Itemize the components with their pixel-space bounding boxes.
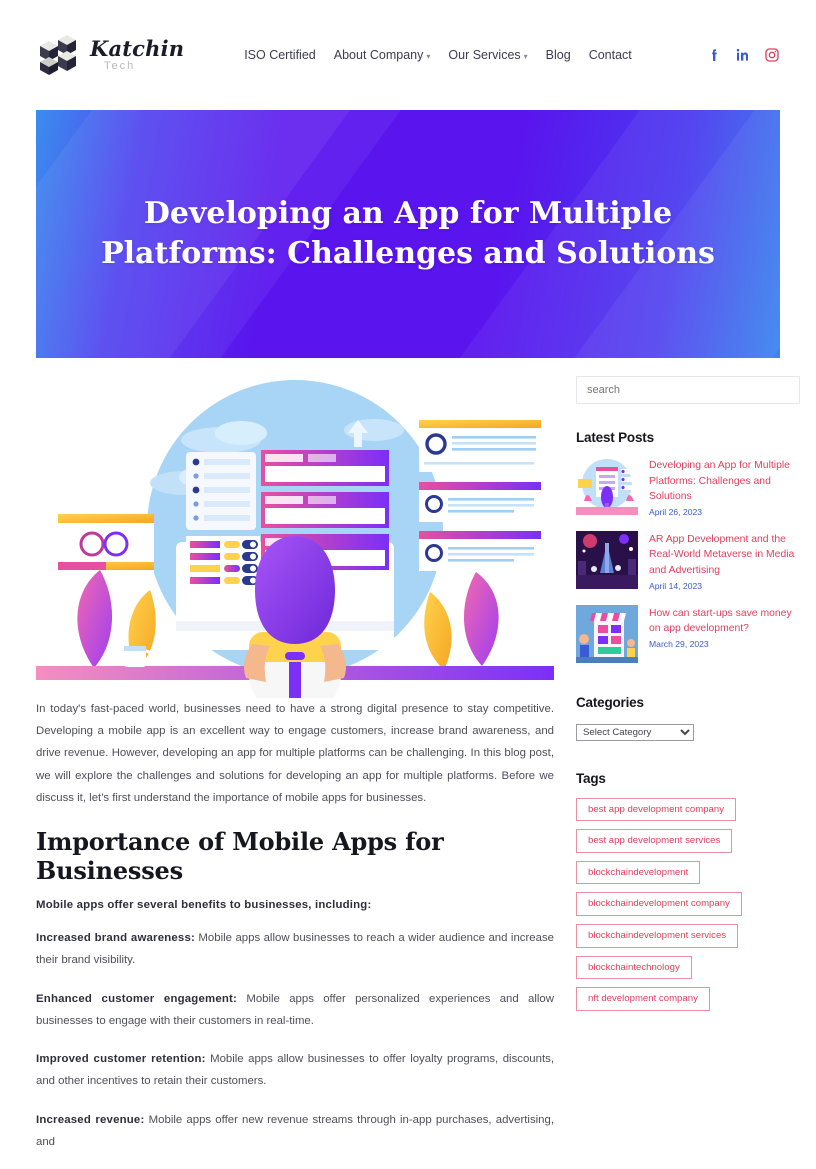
- tag-item[interactable]: blockchaindevelopment: [576, 861, 700, 885]
- list-item[interactable]: How can start-ups save money on app deve…: [576, 605, 800, 663]
- benefit-paragraph-4: Increased revenue: Mobile apps offer new…: [36, 1109, 554, 1153]
- chevron-down-icon: ▾: [426, 52, 430, 61]
- intro-paragraph: In today's fast-paced world, businesses …: [36, 698, 554, 809]
- benefit-paragraph-3: Improved customer retention: Mobile apps…: [36, 1048, 554, 1092]
- brand-name: Katchin: [90, 38, 184, 59]
- post-title-link[interactable]: Developing an App for Multiple Platforms…: [649, 458, 800, 505]
- facebook-icon[interactable]: [706, 47, 722, 63]
- section-heading: Importance of Mobile Apps for Businesses: [36, 827, 554, 885]
- benefit-label: Enhanced customer engagement:: [36, 993, 237, 1005]
- nav-item-blog[interactable]: Blog: [546, 48, 571, 62]
- tag-item[interactable]: best app development services: [576, 829, 732, 853]
- nav-label: About Company: [334, 48, 424, 62]
- post-title-link[interactable]: How can start-ups save money on app deve…: [649, 606, 800, 637]
- tag-item[interactable]: blockchaintechnology: [576, 956, 692, 980]
- lead-paragraph: Mobile apps offer several benefits to bu…: [36, 899, 554, 911]
- main-nav: ISO Certified About Company ▾ Our Servic…: [216, 48, 660, 62]
- search-input[interactable]: [576, 376, 800, 404]
- list-item[interactable]: AR App Development and the Real-World Me…: [576, 531, 800, 591]
- ar-city-night-thumb: [576, 531, 638, 589]
- tag-item[interactable]: best app development company: [576, 798, 736, 822]
- benefit-paragraph-2: Enhanced customer engagement: Mobile app…: [36, 988, 554, 1032]
- page-body: In today's fast-paced world, businesses …: [0, 358, 816, 1169]
- latest-posts-heading: Latest Posts: [576, 430, 800, 445]
- chevron-down-icon: ▾: [524, 52, 528, 61]
- page-title: Developing an App for Multiple Platforms…: [78, 194, 738, 273]
- tag-item[interactable]: blockchaindevelopment company: [576, 892, 742, 916]
- benefit-label: Increased revenue:: [36, 1114, 144, 1126]
- instagram-icon[interactable]: [764, 47, 780, 63]
- benefit-label: Increased brand awareness:: [36, 932, 195, 944]
- nav-item-iso-certified[interactable]: ISO Certified: [244, 48, 316, 62]
- site-header: Katchin Tech ISO Certified About Company…: [0, 0, 816, 110]
- tag-item[interactable]: blockchaindevelopment services: [576, 924, 738, 948]
- post-body: AR App Development and the Real-World Me…: [649, 531, 800, 591]
- sidebar: Latest Posts: [576, 372, 800, 1169]
- storefront-app-thumb: [576, 605, 638, 663]
- article-content: In today's fast-paced world, businesses …: [36, 372, 554, 1169]
- social-links: [660, 47, 780, 63]
- nav-label: Our Services: [448, 48, 520, 62]
- tags-heading: Tags: [576, 771, 800, 786]
- cube-logo-icon: [36, 32, 82, 78]
- post-date: April 26, 2023: [649, 507, 800, 517]
- post-title-link[interactable]: AR App Development and the Real-World Me…: [649, 532, 800, 579]
- post-date: March 29, 2023: [649, 639, 800, 649]
- nav-item-our-services[interactable]: Our Services ▾: [448, 48, 527, 62]
- nav-item-contact[interactable]: Contact: [589, 48, 632, 62]
- brand-text: Katchin Tech: [90, 38, 184, 72]
- tag-list: best app development company best app de…: [576, 798, 800, 1011]
- nav-label: Blog: [546, 48, 571, 62]
- nav-item-about-company[interactable]: About Company ▾: [334, 48, 431, 62]
- list-item[interactable]: Developing an App for Multiple Platforms…: [576, 457, 800, 517]
- brand-subtitle: Tech: [104, 61, 184, 72]
- nav-label: ISO Certified: [244, 48, 316, 62]
- post-body: Developing an App for Multiple Platforms…: [649, 457, 800, 517]
- post-body: How can start-ups save money on app deve…: [649, 605, 800, 649]
- article-hero-illustration: [36, 378, 554, 698]
- rocket-dashboard-thumb: [576, 457, 638, 515]
- category-select[interactable]: Select Category: [576, 724, 694, 741]
- nav-label: Contact: [589, 48, 632, 62]
- post-date: April 14, 2023: [649, 581, 800, 591]
- benefit-label: Improved customer retention:: [36, 1053, 206, 1065]
- tag-item[interactable]: nft development company: [576, 987, 710, 1011]
- categories-heading: Categories: [576, 695, 800, 710]
- linkedin-icon[interactable]: [735, 47, 751, 63]
- brand-logo[interactable]: Katchin Tech: [36, 32, 226, 78]
- hero-banner: Developing an App for Multiple Platforms…: [36, 110, 780, 358]
- benefit-paragraph-1: Increased brand awareness: Mobile apps a…: [36, 927, 554, 971]
